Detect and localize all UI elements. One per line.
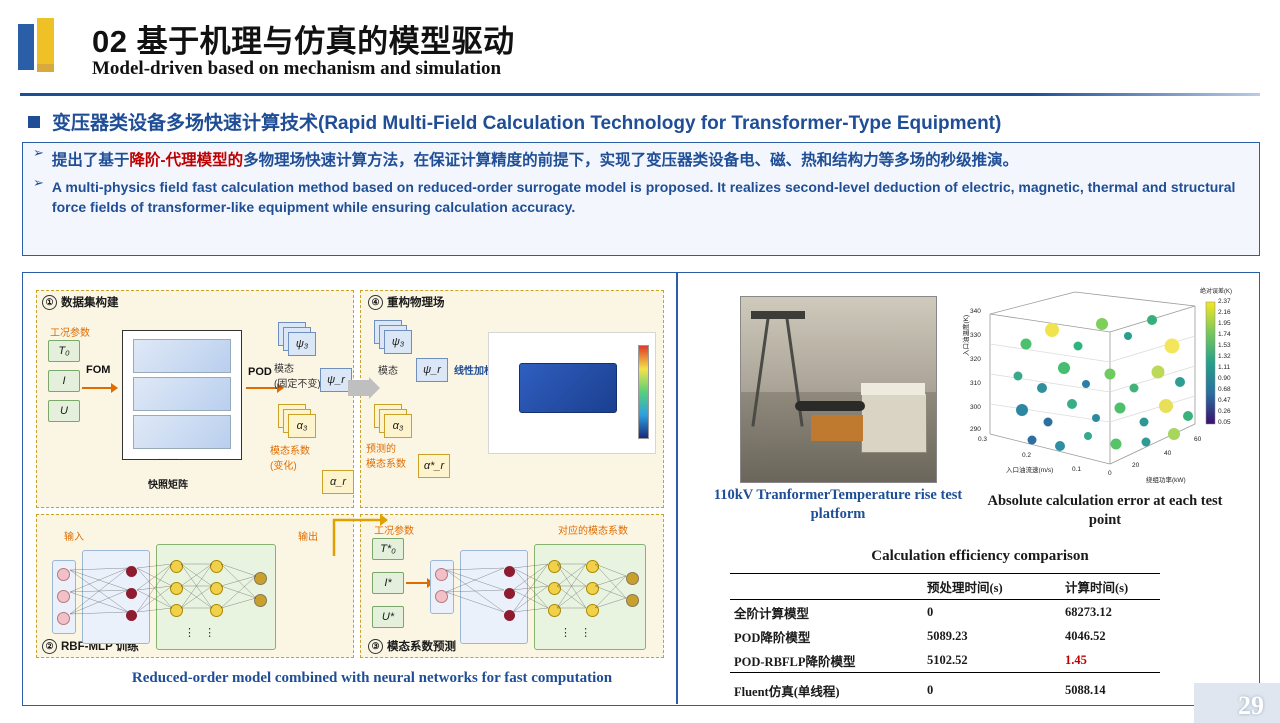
- panel-1-text: 数据集构建: [61, 297, 119, 309]
- x-axis-label: 入口油流速(m/s): [1006, 464, 1053, 474]
- scatter-plot-svg: [960, 284, 1240, 484]
- alpha-r-box: α_r: [322, 470, 354, 494]
- cb-tick-11: 0.05: [1218, 419, 1231, 426]
- z-axis-label: 入口油温度(K): [960, 315, 970, 356]
- snapshot-cube-2: [133, 377, 231, 411]
- alpha-r-star-box: α*_r: [418, 454, 450, 478]
- panel-1-label: ①数据集构建: [42, 294, 119, 310]
- panel-1-number: ①: [42, 295, 57, 310]
- col-header-0: [730, 574, 923, 600]
- var-I: I: [48, 370, 80, 392]
- var-U: U: [48, 400, 80, 422]
- logo-icon: [18, 18, 70, 72]
- transformer-3d-shape: [519, 363, 617, 413]
- mode-label-2: 模态: [378, 362, 398, 377]
- cb-tick-9: 0.47: [1218, 397, 1231, 404]
- panel-4-label: ④重构物理场: [368, 294, 445, 310]
- bullet-square-icon: [28, 116, 40, 128]
- fom-label: FOM: [86, 364, 110, 376]
- statement-cn-highlight: 降阶-代理模型的: [129, 152, 243, 169]
- statement-cn-part2: 多物理场快速计算方法，在保证计算精度的前提下，实现了变压器类设备电、磁、热和结构…: [243, 152, 1018, 169]
- page-number-bg: [1194, 683, 1280, 723]
- z-tick-320: 320: [970, 356, 981, 363]
- var-T0: T₀: [48, 340, 80, 362]
- page-title: 02 基于机理与仿真的模型驱动: [92, 16, 515, 61]
- table-header-row: 预处理时间(s) 计算时间(s): [730, 574, 1160, 600]
- row-3-name: Fluent仿真(单线程): [730, 673, 923, 703]
- row-1-calc: 4046.52: [1061, 624, 1160, 648]
- var-I-star: I*: [372, 572, 404, 594]
- y-tick-0: 0: [1108, 470, 1112, 477]
- psi-r-box-2: ψ_r: [416, 358, 448, 382]
- row-2-name: POD-RBFLP降阶模型: [730, 648, 923, 673]
- row-3-calc: 5088.14: [1061, 673, 1160, 703]
- statement-en-row: ➢ A multi-physics field fast calculation…: [23, 173, 1259, 217]
- panel-3-number: ③: [368, 639, 383, 654]
- scatter-colorbar: [1206, 302, 1215, 424]
- cb-tick-1: 2.16: [1218, 309, 1231, 316]
- pred-mode-coef-label: 预测的模态系数: [366, 440, 406, 470]
- snapshot-matrix-label: 快照矩阵: [148, 476, 188, 491]
- page-header: 02 基于机理与仿真的模型驱动 Model-driven based on me…: [0, 0, 1280, 92]
- work-params-label: 工况参数: [50, 324, 90, 339]
- cb-tick-0: 2.37: [1218, 298, 1231, 305]
- psi-box-3: ψ₃: [288, 332, 316, 356]
- efficiency-table: 预处理时间(s) 计算时间(s) 全阶计算模型 0 68273.12 POD降阶…: [730, 573, 1160, 703]
- mode-coef-label: 模态系数(变化): [270, 442, 310, 472]
- row-0-name: 全阶计算模型: [730, 600, 923, 625]
- psi4-box-3: ψ₃: [384, 330, 412, 354]
- scatter-caption: Absolute calculation error at each test …: [980, 492, 1230, 530]
- table-row: Fluent仿真(单线程) 0 5088.14: [730, 673, 1160, 703]
- cb-tick-5: 1.32: [1218, 353, 1231, 360]
- statement-en: A multi-physics field fast calculation m…: [52, 173, 1237, 217]
- scatter-plot: 绝对误差(K) 2.37 2.16 1.95 1.74 1.53 1.32 1.…: [960, 284, 1240, 484]
- cb-tick-6: 1.11: [1218, 364, 1230, 371]
- z-tick-330: 330: [970, 332, 981, 339]
- z-tick-300: 300: [970, 404, 981, 411]
- page-subtitle: Model-driven based on mechanism and simu…: [92, 58, 501, 80]
- cb-tick-3: 1.74: [1218, 331, 1231, 338]
- table-title: Calculation efficiency comparison: [700, 548, 1260, 565]
- cb-tick-10: 0.26: [1218, 408, 1231, 415]
- x-tick-02: 0.2: [1022, 452, 1031, 459]
- photo-cable: [795, 401, 865, 411]
- mlp-dots: ⋮ ⋮: [184, 626, 215, 639]
- row-3-pre: 0: [923, 673, 1061, 703]
- y-tick-60: 60: [1194, 436, 1201, 443]
- z-tick-290: 290: [970, 426, 981, 433]
- arrow-bullet-icon: ➢: [33, 143, 44, 163]
- pod-label: POD: [248, 366, 272, 378]
- panel-4-number: ④: [368, 295, 383, 310]
- col-header-2: 计算时间(s): [1061, 574, 1160, 600]
- header-divider-fade: [1030, 93, 1260, 96]
- photo-transformer-tank: [861, 393, 927, 453]
- alpha4-box-3: α₃: [384, 414, 412, 438]
- photo-caption: 110kV TranformerTemperature rise test pl…: [690, 486, 986, 524]
- y-tick-20: 20: [1132, 462, 1139, 469]
- reconstructed-field-box: [488, 332, 656, 454]
- statement-cn-row: ➢ 提出了基于降阶-代理模型的多物理场快速计算方法，在保证计算精度的前提下，实现…: [23, 143, 1259, 173]
- panel-4-text: 重构物理场: [387, 297, 445, 309]
- snapshot-cube-1: [133, 339, 231, 373]
- net-edges-right: [410, 522, 660, 656]
- snapshot-matrix-box: [122, 330, 242, 460]
- cb-tick-4: 1.53: [1218, 342, 1231, 349]
- page-number: 29: [1238, 691, 1264, 721]
- row-0-pre: 0: [923, 600, 1061, 625]
- row-0-calc: 68273.12: [1061, 600, 1160, 625]
- y-axis-label: 绕组功率(kW): [1146, 474, 1186, 484]
- snapshot-dots: ……: [158, 452, 178, 463]
- col-header-1: 预处理时间(s): [923, 574, 1061, 600]
- y-tick-40: 40: [1164, 450, 1171, 457]
- photo-transformer-top: [861, 383, 925, 395]
- alpha-box-3: α₃: [288, 414, 316, 438]
- content-vertical-divider: [676, 272, 678, 704]
- field-colorbar: [638, 345, 649, 439]
- z-tick-340: 340: [970, 308, 981, 315]
- snapshot-cube-3: [133, 415, 231, 449]
- cb-tick-8: 0.68: [1218, 386, 1231, 393]
- table-row: POD降阶模型 5089.23 4046.52: [730, 624, 1160, 648]
- cb-tick-7: 0.90: [1218, 375, 1231, 382]
- colorbar-title: 绝对误差(K): [1200, 286, 1232, 295]
- var-U-star: U*: [372, 606, 404, 628]
- statement-cn-part1: 提出了基于: [52, 152, 130, 169]
- table-row: 全阶计算模型 0 68273.12: [730, 600, 1160, 625]
- test-platform-photo: [740, 296, 937, 483]
- x-tick-03: 0.3: [978, 436, 987, 443]
- feedback-arrow-icon: [330, 510, 390, 560]
- section-title-row: 变压器类设备多场快速计算技术(Rapid Multi-Field Calcula…: [28, 108, 1001, 135]
- statement-cn: 提出了基于降阶-代理模型的多物理场快速计算方法，在保证计算精度的前提下，实现了变…: [52, 143, 1237, 173]
- statement-box: ➢ 提出了基于降阶-代理模型的多物理场快速计算方法，在保证计算精度的前提下，实现…: [22, 142, 1260, 256]
- table-row: POD-RBFLP降阶模型 5102.52 1.45: [730, 648, 1160, 673]
- cb-tick-2: 1.95: [1218, 320, 1231, 327]
- arrow-bullet-icon-2: ➢: [33, 173, 44, 193]
- row-2-pre: 5102.52: [923, 648, 1061, 673]
- workflow-diagram: ①数据集构建 工况参数 T₀ I U FOM …… 快照矩阵 POD ψ₃ 模态…: [30, 282, 670, 696]
- row-1-pre: 5089.23: [923, 624, 1061, 648]
- x-tick-01: 0.1: [1072, 466, 1081, 473]
- photo-orange-box: [811, 415, 863, 441]
- photo-gantry-top: [751, 311, 805, 319]
- arrow-panel1-to-panel4: [348, 380, 370, 396]
- section-title: 变压器类设备多场快速计算技术(Rapid Multi-Field Calcula…: [52, 108, 1001, 135]
- mode-fixed-label: 模态(固定不变): [274, 360, 321, 390]
- diagram-caption: Reduced-order model combined with neural…: [92, 670, 652, 687]
- arrow-to-snapshot: [82, 387, 112, 389]
- scatter-points: [1014, 315, 1194, 451]
- z-tick-310: 310: [970, 380, 981, 387]
- row-1-name: POD降阶模型: [730, 624, 923, 648]
- row-2-calc: 1.45: [1061, 648, 1160, 673]
- pred-mlp-dots: ⋮ ⋮: [560, 626, 591, 639]
